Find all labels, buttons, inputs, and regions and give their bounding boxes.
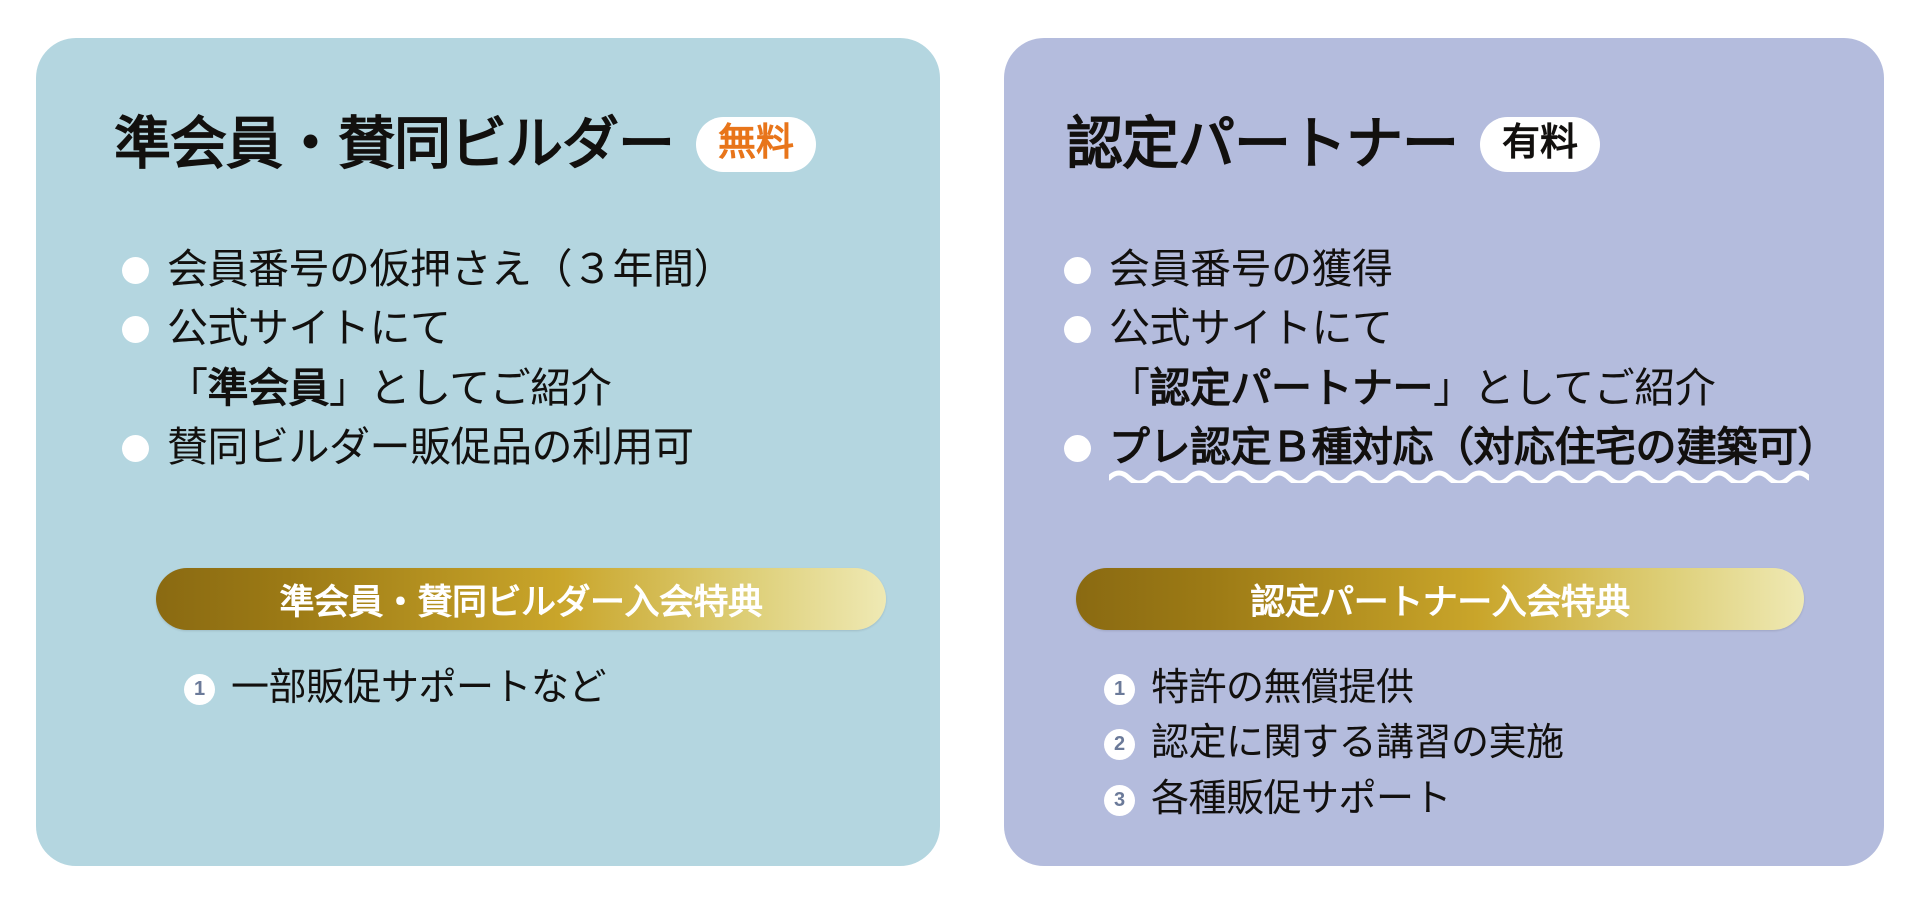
quote-open: 「	[167, 365, 208, 411]
card-associate-member: 準会員・賛同ビルダー 無料 会員番号の仮押さえ（３年間） 公式サイトにて 「準会…	[36, 38, 940, 866]
benefits-banner-label: 準会員・賛同ビルダー入会特典	[279, 574, 762, 625]
benefit-list-partner: 1 特許の無償提供 2 認定に関する講習の実施 3 各種販促サポート	[1104, 664, 1564, 830]
list-item: 会員番号の仮押さえ（３年間）	[122, 243, 902, 295]
card-header-associate: 準会員・賛同ビルダー 無料	[114, 116, 816, 173]
list-item: 1 一部販促サポートなど	[184, 664, 606, 713]
list-item: 公式サイトにて	[1064, 302, 1824, 354]
bullet-dot-icon	[122, 435, 149, 462]
list-item: 1 特許の無償提供	[1104, 664, 1564, 713]
list-item: 2 認定に関する講習の実施	[1104, 719, 1564, 768]
bullet-dot-icon	[1064, 435, 1091, 462]
list-item: 公式サイトにて	[122, 302, 902, 354]
feature-subline-associate: 「準会員」としてご紹介	[167, 362, 902, 414]
benefit-text: 一部販促サポートなど	[231, 664, 606, 713]
benefits-banner-label: 認定パートナー入会特典	[1250, 574, 1630, 625]
quote-open: 「	[1109, 365, 1150, 411]
feature-text-wavy-wrapper: プレ認定Ｂ種対応（対応住宅の建築可）	[1109, 421, 1838, 473]
quote-close-text: 」としてご紹介	[1433, 365, 1715, 411]
price-badge-free: 無料	[696, 117, 816, 172]
benefits-banner-partner: 認定パートナー入会特典	[1076, 568, 1804, 630]
benefit-list-associate: 1 一部販促サポートなど	[184, 664, 606, 719]
card-title-associate: 準会員・賛同ビルダー	[114, 116, 674, 173]
number-badge-3: 3	[1104, 785, 1135, 816]
feature-text: 会員番号の獲得	[1109, 243, 1393, 295]
feature-list-associate: 会員番号の仮押さえ（３年間） 公式サイトにて 「準会員」としてご紹介 賛同ビルダ…	[122, 243, 902, 481]
list-item: プレ認定Ｂ種対応（対応住宅の建築可）	[1064, 421, 1824, 473]
number-badge-1: 1	[1104, 674, 1135, 705]
feature-text: 会員番号の仮押さえ（３年間）	[167, 243, 734, 295]
feature-subline-emphasis: 準会員	[208, 365, 330, 411]
feature-text: 賛同ビルダー販促品の利用可	[167, 421, 694, 473]
feature-text: 公式サイトにて	[1109, 302, 1393, 354]
bullet-dot-icon	[1064, 257, 1091, 284]
bullet-dot-icon	[1064, 316, 1091, 343]
bullet-dot-icon	[122, 257, 149, 284]
benefit-text: 認定に関する講習の実施	[1151, 719, 1564, 768]
list-item: 会員番号の獲得	[1064, 243, 1824, 295]
card-certified-partner: 認定パートナー 有料 会員番号の獲得 公式サイトにて 「認定パートナー」としてご…	[1004, 38, 1884, 866]
benefit-text: 各種販促サポート	[1151, 775, 1451, 824]
benefit-text: 特許の無償提供	[1151, 664, 1414, 713]
card-header-partner: 認定パートナー 有料	[1066, 116, 1600, 173]
membership-comparison-graphic: 準会員・賛同ビルダー 無料 会員番号の仮押さえ（３年間） 公式サイトにて 「準会…	[0, 0, 1920, 902]
wavy-underline-icon	[1109, 469, 1842, 483]
benefits-banner-associate: 準会員・賛同ビルダー入会特典	[156, 568, 886, 630]
feature-subline-emphasis: 認定パートナー	[1150, 365, 1434, 411]
feature-subline-partner: 「認定パートナー」としてご紹介	[1109, 362, 1824, 414]
feature-text: 公式サイトにて	[167, 302, 451, 354]
quote-close-text: 」としてご紹介	[329, 365, 611, 411]
card-title-partner: 認定パートナー	[1066, 116, 1458, 173]
number-badge-1: 1	[184, 674, 215, 705]
list-item: 3 各種販促サポート	[1104, 775, 1564, 824]
bullet-dot-icon	[122, 316, 149, 343]
feature-text: プレ認定Ｂ種対応（対応住宅の建築可）	[1109, 421, 1838, 473]
price-badge-paid: 有料	[1480, 117, 1600, 172]
feature-list-partner: 会員番号の獲得 公式サイトにて 「認定パートナー」としてご紹介 プレ認定Ｂ種対応…	[1064, 243, 1824, 481]
list-item: 賛同ビルダー販促品の利用可	[122, 421, 902, 473]
number-badge-2: 2	[1104, 729, 1135, 760]
